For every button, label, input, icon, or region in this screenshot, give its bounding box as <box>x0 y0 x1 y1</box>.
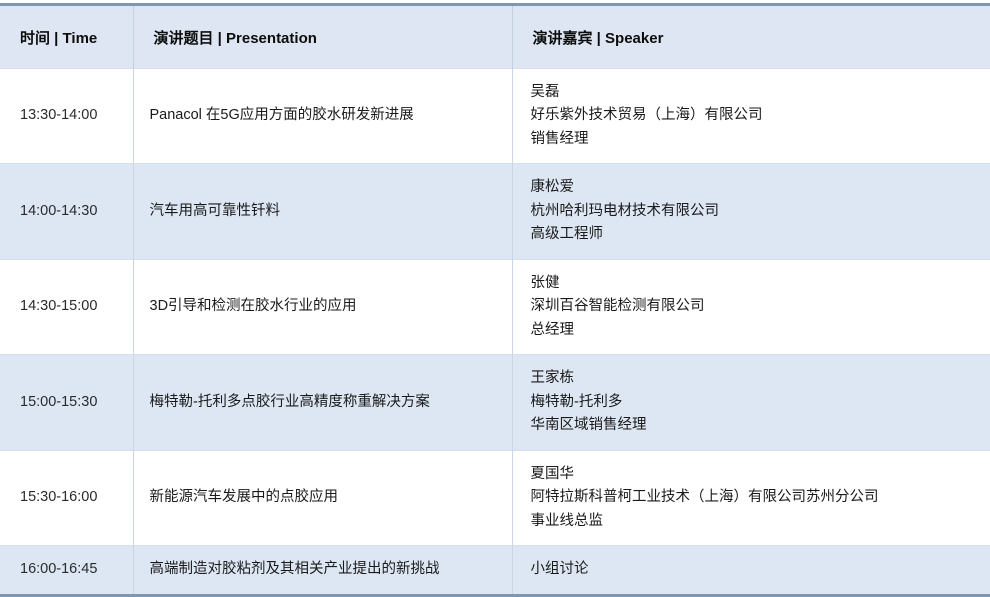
cell-presentation: Panacol 在5G应用方面的胶水研发新进展 <box>133 69 512 164</box>
speaker-title: 销售经理 <box>531 128 977 151</box>
table-row: 15:00-15:30 梅特勒-托利多点胶行业高精度称重解决方案 王家栋 梅特勒… <box>0 355 990 450</box>
column-header-speaker: 演讲嘉宾 | Speaker <box>512 5 990 69</box>
cell-speaker: 夏国华 阿特拉斯科普柯工业技术（上海）有限公司苏州分公司 事业线总监 <box>512 450 990 545</box>
cell-speaker: 小组讨论 <box>512 546 990 595</box>
speaker-company: 杭州哈利玛电材技术有限公司 <box>531 200 977 223</box>
cell-time: 14:30-15:00 <box>0 259 133 354</box>
table-header: 时间 | Time 演讲题目 | Presentation 演讲嘉宾 | Spe… <box>0 5 990 69</box>
cell-time: 13:30-14:00 <box>0 69 133 164</box>
speaker-name: 小组讨论 <box>531 558 977 581</box>
column-header-presentation: 演讲题目 | Presentation <box>133 5 512 69</box>
header-row: 时间 | Time 演讲题目 | Presentation 演讲嘉宾 | Spe… <box>0 5 990 69</box>
table-row: 13:30-14:00 Panacol 在5G应用方面的胶水研发新进展 吴磊 好… <box>0 69 990 164</box>
cell-speaker: 王家栋 梅特勒-托利多 华南区域销售经理 <box>512 355 990 450</box>
speaker-title: 总经理 <box>531 319 977 342</box>
speaker-company: 深圳百谷智能检测有限公司 <box>531 295 977 318</box>
cell-presentation: 汽车用高可靠性钎料 <box>133 164 512 259</box>
cell-time: 15:00-15:30 <box>0 355 133 450</box>
table-row: 14:00-14:30 汽车用高可靠性钎料 康松爱 杭州哈利玛电材技术有限公司 … <box>0 164 990 259</box>
cell-presentation: 新能源汽车发展中的点胶应用 <box>133 450 512 545</box>
cell-presentation: 高端制造对胶粘剂及其相关产业提出的新挑战 <box>133 546 512 595</box>
cell-time: 16:00-16:45 <box>0 546 133 595</box>
speaker-title: 高级工程师 <box>531 223 977 246</box>
speaker-name: 夏国华 <box>531 463 977 486</box>
cell-presentation: 3D引导和检测在胶水行业的应用 <box>133 259 512 354</box>
schedule-container: 时间 | Time 演讲题目 | Presentation 演讲嘉宾 | Spe… <box>0 0 990 555</box>
table-row: 14:30-15:00 3D引导和检测在胶水行业的应用 张健 深圳百谷智能检测有… <box>0 259 990 354</box>
cell-speaker: 吴磊 好乐紫外技术贸易（上海）有限公司 销售经理 <box>512 69 990 164</box>
table-body: 13:30-14:00 Panacol 在5G应用方面的胶水研发新进展 吴磊 好… <box>0 69 990 596</box>
speaker-company: 阿特拉斯科普柯工业技术（上海）有限公司苏州分公司 <box>531 486 977 509</box>
cell-presentation: 梅特勒-托利多点胶行业高精度称重解决方案 <box>133 355 512 450</box>
speaker-title: 华南区域销售经理 <box>531 414 977 437</box>
speaker-name: 康松爱 <box>531 176 977 199</box>
conference-schedule-table: 时间 | Time 演讲题目 | Presentation 演讲嘉宾 | Spe… <box>0 3 990 597</box>
speaker-title: 事业线总监 <box>531 510 977 533</box>
speaker-name: 张健 <box>531 272 977 295</box>
cell-speaker: 康松爱 杭州哈利玛电材技术有限公司 高级工程师 <box>512 164 990 259</box>
speaker-name: 王家栋 <box>531 367 977 390</box>
column-header-time: 时间 | Time <box>0 5 133 69</box>
speaker-company: 梅特勒-托利多 <box>531 391 977 414</box>
cell-time: 15:30-16:00 <box>0 450 133 545</box>
table-row: 15:30-16:00 新能源汽车发展中的点胶应用 夏国华 阿特拉斯科普柯工业技… <box>0 450 990 545</box>
cell-time: 14:00-14:30 <box>0 164 133 259</box>
speaker-name: 吴磊 <box>531 81 977 104</box>
table-row: 16:00-16:45 高端制造对胶粘剂及其相关产业提出的新挑战 小组讨论 <box>0 546 990 595</box>
cell-speaker: 张健 深圳百谷智能检测有限公司 总经理 <box>512 259 990 354</box>
speaker-company: 好乐紫外技术贸易（上海）有限公司 <box>531 104 977 127</box>
